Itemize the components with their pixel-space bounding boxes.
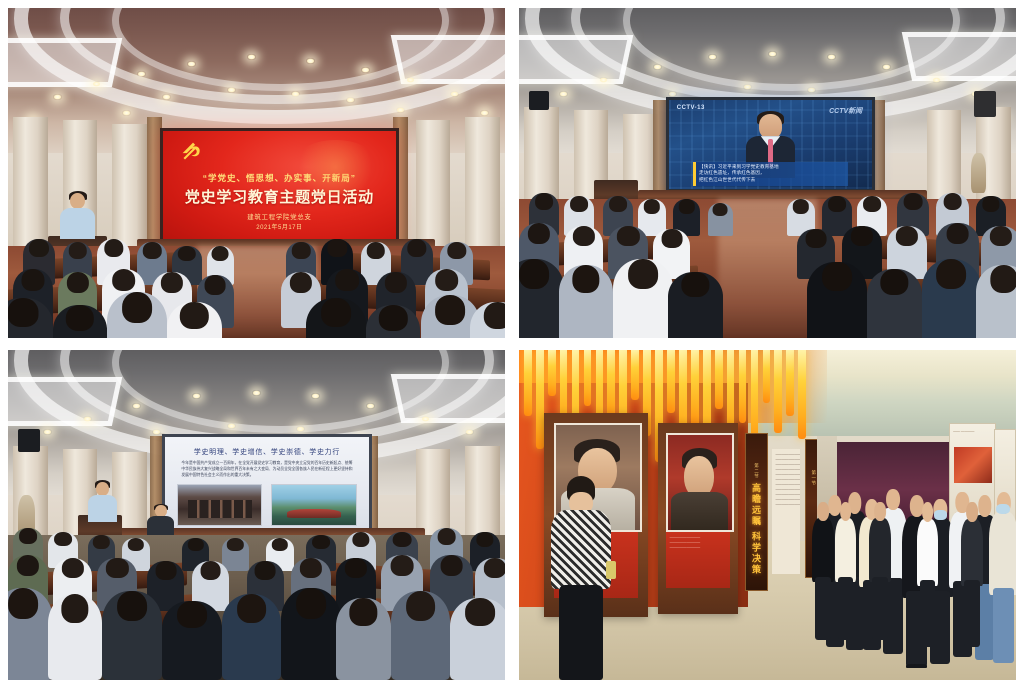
photo-bottom-left[interactable]: 学史明理、学史增信、学史崇德、学史力行 今年是中国共产党成立一百周年，在全党开展… — [8, 350, 505, 680]
person-head — [946, 223, 969, 244]
person-head — [106, 558, 128, 578]
person-head — [122, 292, 152, 323]
person-head — [155, 561, 176, 580]
person-head — [68, 242, 86, 259]
person-head — [572, 226, 594, 246]
visitor-head — [874, 502, 886, 521]
person-head — [661, 229, 682, 248]
person-head — [367, 242, 385, 259]
audience-person — [807, 262, 867, 338]
visitor-head — [840, 502, 852, 521]
hall-scene-2: CCTV-13 CCTV新闻 【快讯】习近平来到习学党史教育基地 走访红色遗址，… — [519, 8, 1016, 338]
person-head — [8, 588, 38, 619]
person-head — [292, 242, 310, 259]
person-head — [335, 269, 359, 292]
person-head — [290, 272, 312, 293]
audience-person — [613, 259, 673, 338]
person-head — [863, 196, 881, 212]
person-head — [881, 269, 908, 296]
visitor-torso — [989, 512, 1016, 594]
audience — [8, 8, 505, 338]
audience-person — [519, 259, 564, 338]
visitor — [812, 502, 834, 641]
person-head — [379, 305, 407, 331]
person-head — [128, 538, 144, 551]
visitor-legs — [993, 588, 1014, 664]
person-head — [682, 272, 709, 297]
visitor-legs — [872, 577, 888, 641]
person-head — [435, 295, 465, 325]
visitor — [989, 492, 1016, 664]
person-head — [943, 193, 962, 210]
person-head — [713, 203, 728, 216]
person-head — [117, 591, 147, 621]
person-head — [406, 591, 436, 621]
person-head — [17, 555, 39, 576]
person-head — [609, 196, 627, 212]
person-head — [476, 532, 493, 548]
visitor-shoe — [914, 664, 927, 668]
person-head — [61, 558, 83, 578]
person-head — [180, 302, 208, 329]
person-head — [300, 558, 322, 578]
audience-person — [281, 588, 341, 680]
audience-person — [222, 594, 282, 680]
person-head — [528, 223, 550, 244]
person-head — [440, 555, 463, 576]
visitor-head — [966, 502, 978, 522]
visitor — [835, 502, 857, 641]
person-head — [896, 226, 918, 246]
person-head — [212, 246, 229, 262]
visitor-legs — [964, 580, 980, 647]
visitor — [869, 502, 891, 641]
audience-person — [222, 538, 249, 571]
audience — [8, 350, 505, 680]
visitor-head — [922, 502, 934, 522]
audience-person — [162, 601, 222, 680]
visitor-torso — [835, 518, 857, 582]
person-head — [407, 239, 426, 257]
person-head — [793, 199, 809, 214]
person-head — [66, 305, 94, 331]
visitor-group — [519, 350, 1016, 680]
visitor-head — [817, 502, 829, 521]
person-head — [644, 199, 660, 214]
person-head — [328, 239, 347, 257]
audience-person — [53, 305, 108, 338]
audience-person — [867, 269, 922, 338]
audience-person — [922, 259, 982, 338]
person-head — [393, 532, 412, 548]
visitor-torso — [961, 519, 983, 586]
photo-top-left[interactable]: “学党史、悟思想、办实事、开新局” 党史学习教育主题党日活动 建筑工程学院党总支… — [8, 8, 505, 338]
audience-person — [336, 598, 391, 681]
audience-person — [708, 203, 733, 236]
person-head — [345, 558, 367, 578]
audience-person — [8, 588, 53, 680]
person-head — [21, 269, 44, 292]
person-head — [177, 601, 207, 628]
visitor-torso — [812, 518, 834, 582]
audience-person — [668, 272, 723, 338]
person-head — [66, 272, 88, 293]
person-head — [385, 272, 407, 293]
photo-bottom-right[interactable]: ———————————— ———————————— ———————————— —… — [519, 350, 1016, 680]
photo-grid: “学党史、悟思想、办实事、开新局” 党史学习教育主题党日活动 建筑工程学院党总支… — [0, 0, 1024, 685]
person-head — [272, 538, 288, 551]
visitor — [917, 502, 939, 647]
person-head — [187, 538, 203, 551]
person-head — [519, 259, 549, 289]
audience-person — [107, 292, 167, 338]
hall-scene-1: “学党史、悟思想、办实事、开新局” 党史学习教育主题党日活动 建筑工程学院党总支… — [8, 8, 505, 338]
person-head — [143, 242, 161, 259]
audience — [519, 8, 1016, 338]
person-head — [61, 594, 88, 623]
person-head — [237, 594, 267, 623]
audience-person — [306, 298, 366, 338]
person-head — [321, 298, 351, 327]
person-head — [628, 259, 658, 289]
person-head — [851, 226, 873, 246]
museum-scene: ———————————— ———————————— ———————————— —… — [519, 350, 1016, 680]
face-mask-icon — [996, 504, 1010, 514]
person-head — [535, 193, 553, 210]
person-head — [200, 561, 221, 580]
person-head — [570, 196, 588, 212]
person-head — [983, 196, 1000, 212]
audience-person — [391, 591, 451, 680]
person-head — [435, 269, 459, 292]
person-head — [828, 196, 846, 212]
person-head — [990, 226, 1012, 246]
visitor-legs — [838, 577, 854, 641]
visitor — [961, 502, 983, 647]
person-head — [465, 598, 495, 626]
visitor-torso — [917, 519, 939, 586]
audience-person — [559, 265, 614, 338]
person-head — [352, 532, 369, 548]
person-head — [104, 239, 123, 257]
person-head — [296, 588, 326, 619]
person-head — [572, 265, 599, 293]
person-head — [806, 229, 827, 248]
person-head — [350, 598, 377, 626]
person-head — [29, 239, 49, 257]
person-head — [617, 226, 639, 246]
person-head — [484, 558, 505, 578]
person-head — [161, 272, 183, 293]
photo-top-right[interactable]: CCTV-13 CCTV新闻 【快讯】习近平来到习学党史教育基地 走访红色遗址，… — [519, 8, 1016, 338]
person-head — [178, 246, 196, 262]
visitor-legs — [815, 577, 831, 641]
person-head — [54, 532, 72, 547]
hall-scene-3: 学史明理、学史增信、学史崇德、学史力行 今年是中国共产党成立一百周年，在全党开展… — [8, 350, 505, 680]
audience-person — [102, 591, 162, 680]
person-head — [822, 262, 852, 291]
person-head — [679, 199, 695, 214]
person-head — [936, 259, 966, 289]
person-head — [19, 528, 37, 544]
audience-person — [48, 594, 103, 680]
audience-person — [976, 265, 1016, 338]
person-head — [437, 528, 456, 545]
person-head — [483, 302, 505, 329]
person-head — [990, 265, 1016, 293]
visitor-torso — [869, 518, 891, 582]
person-head — [312, 535, 330, 550]
person-head — [8, 298, 38, 327]
audience-person — [450, 598, 505, 681]
visitor-legs — [920, 580, 936, 647]
person-head — [112, 269, 136, 292]
person-head — [227, 538, 243, 551]
person-head — [255, 561, 276, 580]
person-head — [390, 555, 413, 576]
person-head — [447, 242, 466, 259]
person-head — [205, 275, 226, 295]
person-head — [904, 193, 923, 210]
person-head — [93, 535, 109, 550]
